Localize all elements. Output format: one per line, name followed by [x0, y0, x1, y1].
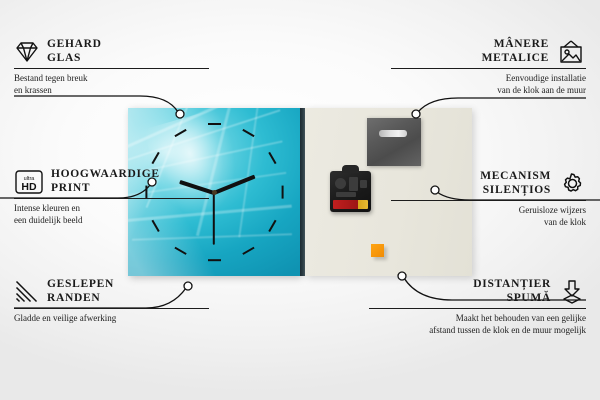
feature-desc-line1: Eenvoudige installatie [391, 73, 586, 85]
feature-title-line1: HOOGWAARDIGE [51, 168, 160, 182]
feature-desc-line2: afstand tussen de klok en de muur mogeli… [369, 325, 586, 337]
feature-metal-hangers[interactable]: MÂNERE METALICE Eenvoudige installatie v… [391, 38, 586, 96]
mechanism-detail [336, 192, 356, 197]
divider [14, 198, 209, 199]
mechanism-detail [360, 180, 367, 188]
feature-desc-line1: Geruisloze wijzers [391, 205, 586, 217]
feature-desc-line2: van de klok aan de muur [391, 85, 586, 97]
beveled-edges-icon [14, 280, 40, 304]
feature-desc-line1: Intense kleuren en [14, 203, 209, 215]
feature-desc-line2: en krassen [14, 85, 209, 97]
infographic-canvas: GEHARD GLAS Bestand tegen breuk en krass… [0, 0, 600, 400]
mechanism-hanging-tab [342, 165, 359, 173]
feature-title-line1: MÂNERE [482, 38, 549, 52]
feature-tempered-glass[interactable]: GEHARD GLAS Bestand tegen breuk en krass… [14, 38, 209, 96]
feature-silent-mechanism[interactable]: MECANISM SILENȚIOS Geruisloze wijzers va… [391, 170, 586, 228]
mechanism-detail [335, 178, 346, 189]
keyhole-slot [379, 130, 407, 137]
hour-mark [208, 123, 221, 125]
feature-desc-line1: Maakt het behouden van een gelijke [369, 313, 586, 325]
svg-text:HD: HD [21, 181, 37, 193]
mechanism-detail [349, 177, 358, 191]
hour-mark [242, 247, 254, 255]
feature-desc-line2: van de klok [391, 217, 586, 229]
feature-title-line2: GLAS [47, 52, 102, 66]
feature-ground-edges[interactable]: GESLEPEN RANDEN Gladde en veilige afwerk… [14, 278, 209, 325]
clock-center-hub [212, 190, 217, 195]
metal-hanger-plate [367, 118, 421, 166]
second-hand [213, 193, 215, 245]
clock-mechanism [330, 171, 371, 212]
feature-title-line2: SPUMĂ [473, 292, 551, 306]
feature-desc-line2: een duidelijk beeld [14, 215, 209, 227]
ultra-hd-icon: ultra HD [14, 169, 44, 195]
press-down-icon [558, 279, 586, 305]
divider [14, 68, 209, 69]
divider [14, 308, 209, 309]
hour-mark [269, 220, 277, 232]
feature-high-quality-print[interactable]: ultra HD HOOGWAARDIGE PRINT Intense kleu… [14, 168, 209, 226]
hour-mark [281, 185, 283, 198]
feature-title-line2: SILENȚIOS [480, 184, 551, 198]
feature-title-line2: METALICE [482, 52, 549, 66]
feature-desc-line1: Bestand tegen breuk [14, 73, 209, 85]
feature-title-line1: GESLEPEN [47, 278, 114, 292]
feature-title-line2: PRINT [51, 182, 160, 196]
divider [369, 308, 586, 309]
gear-icon [558, 171, 586, 197]
feature-foam-spacer[interactable]: DISTANȚIER SPUMĂ Maakt het behouden van … [369, 278, 586, 336]
divider [391, 68, 586, 69]
hour-mark [269, 152, 277, 164]
hour-mark [174, 247, 186, 255]
battery [333, 200, 368, 209]
hour-mark [208, 259, 221, 261]
picture-hanger-icon [556, 39, 586, 65]
diamond-icon [14, 40, 40, 64]
feature-title-line1: GEHARD [47, 38, 102, 52]
foam-spacer [371, 244, 384, 257]
divider [391, 200, 586, 201]
feature-title-line1: MECANISM [480, 170, 551, 184]
feature-title-line1: DISTANȚIER [473, 278, 551, 292]
feature-title-line2: RANDEN [47, 292, 114, 306]
feature-desc-line1: Gladde en veilige afwerking [14, 313, 209, 325]
